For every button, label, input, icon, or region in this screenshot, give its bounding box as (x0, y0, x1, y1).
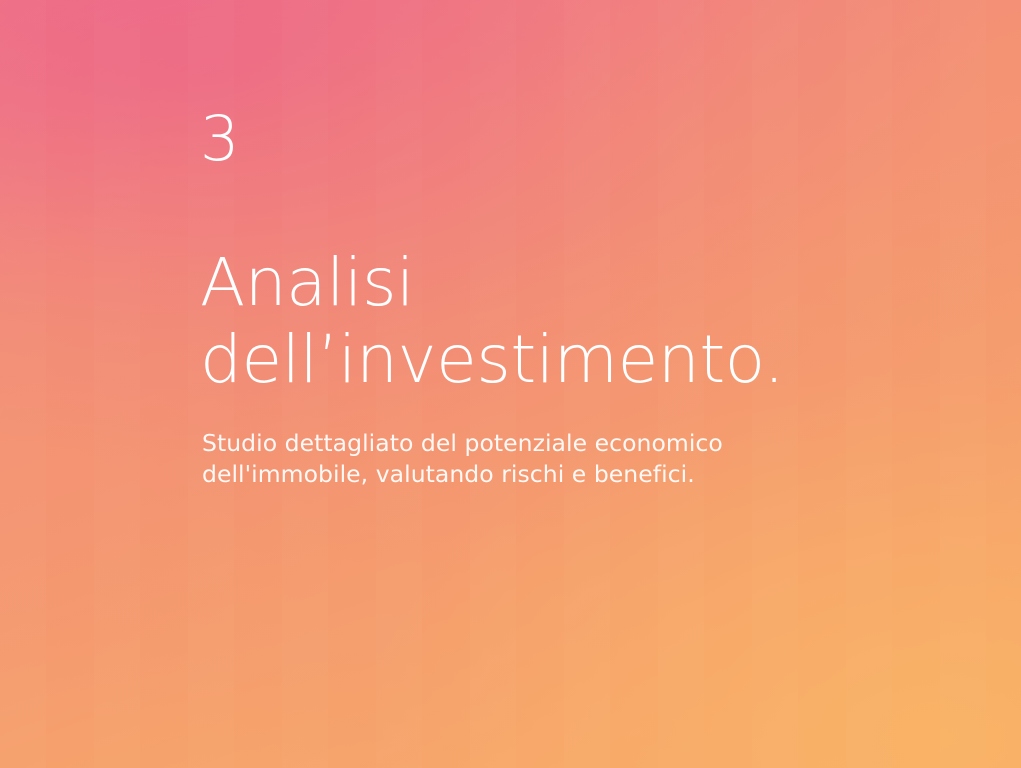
presentation-slide: 3 Analisi dell’investimento. Studio dett… (0, 0, 1021, 768)
section-number: 3 (200, 108, 240, 170)
slide-subtitle: Studio dettagliato del potenziale econom… (202, 428, 842, 491)
slide-content: 3 Analisi dell’investimento. Studio dett… (200, 0, 960, 768)
page-title: Analisi dell’investimento. (200, 245, 900, 398)
